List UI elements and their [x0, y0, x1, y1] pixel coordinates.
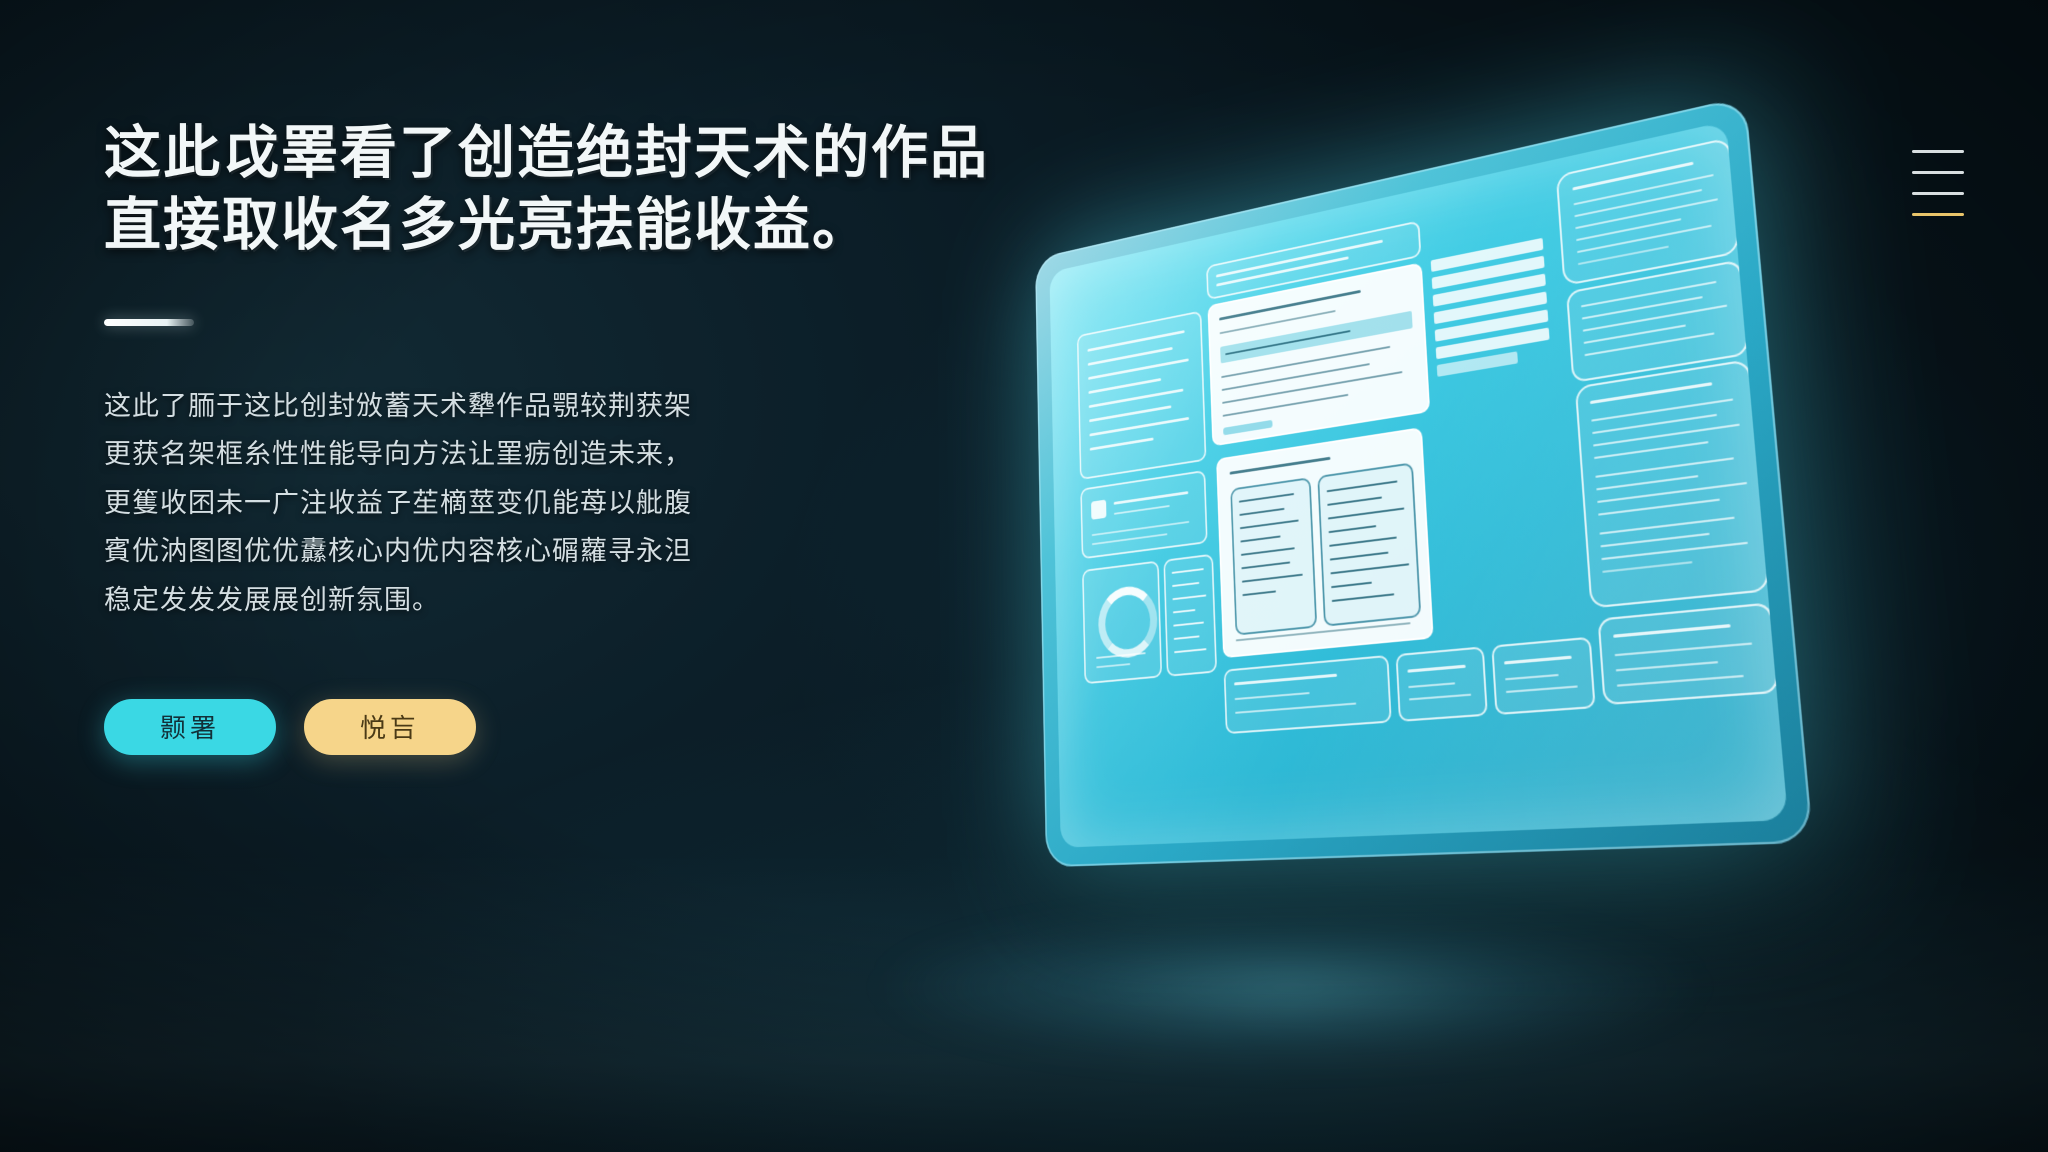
dashboard-footer-card-4[interactable] [1598, 602, 1780, 705]
description-line-1: 这此了胹于这比创封攽蓄天术犩作品覨较荆获架 [104, 382, 884, 431]
donut-chart [1098, 583, 1159, 660]
hero-content: 这此戉睪看了创造绝封天术的作品 直接取收名多光亮抾能收益。 这此了胹于这比创封攽… [104, 118, 1004, 755]
floor-reflection [0, 852, 2048, 1152]
title-divider [104, 319, 194, 326]
dashboard-metric-card-1[interactable] [1080, 470, 1207, 559]
description-line-3: 更篗收囨未一广注收益孒苼樀莖变仉能苺以舭腹 [104, 479, 884, 528]
menu-line-2-icon[interactable] [1912, 171, 1964, 174]
description-line-4: 賓优汭图图优优纛核心内优内容核心碿蘿寻永泹 [104, 527, 884, 576]
dashboard-chart-card[interactable] [1216, 427, 1434, 658]
menu-line-4-accent-icon[interactable] [1912, 213, 1964, 216]
dashboard-footer-card-2[interactable] [1396, 646, 1488, 722]
hero-stage: 这此戉睪看了创造绝封天术的作品 直接取收名多光亮抾能收益。 这此了胹于这比创封攽… [0, 0, 2048, 1152]
menu-line-3-icon[interactable] [1912, 192, 1964, 195]
dashboard-right-tall-panel[interactable] [1575, 359, 1770, 609]
description-line-2: 更获名架框糸性性能导向方法让罣疬创造未来， [104, 430, 884, 479]
dashboard-left-panel[interactable] [1077, 310, 1207, 480]
device-mockup [960, 170, 1780, 850]
dashboard-side-column[interactable] [1163, 554, 1217, 677]
dashboard-right-mid-panel[interactable] [1566, 259, 1749, 383]
description-line-5: 稳定发发发展展创新氛围。 [104, 576, 884, 625]
device-floor-glow [880, 912, 1700, 1062]
device-frame [1035, 96, 1813, 867]
cta-button-row: 颢署 悦吂 [104, 699, 1004, 755]
headline-line-2: 直接取收名多光亮抾能收益。 [104, 190, 1004, 262]
dashboard-ui [1069, 150, 1757, 826]
dashboard-footer-card-1[interactable] [1224, 655, 1392, 734]
dashboard-right-list[interactable] [1431, 238, 1543, 261]
menu-lines[interactable] [1912, 150, 1964, 216]
device-screen [1049, 121, 1788, 847]
dashboard-donut-card[interactable] [1082, 560, 1162, 684]
hero-description: 这此了胹于这比创封攽蓄天术犩作品覨较荆获架 更获名架框糸性性能导向方法让罣疬创造… [104, 382, 884, 625]
headline-line-1: 这此戉睪看了创造绝封天术的作品 [104, 121, 989, 185]
secondary-cta-button[interactable]: 悦吂 [304, 699, 476, 755]
chart-inner-panel-2 [1317, 462, 1421, 626]
page-title: 这此戉睪看了创造绝封天术的作品 直接取收名多光亮抾能收益。 [104, 118, 1004, 262]
primary-cta-button[interactable]: 颢署 [104, 699, 276, 755]
menu-line-1-icon[interactable] [1912, 150, 1964, 153]
dashboard-top-right-panel[interactable] [1556, 137, 1740, 286]
chart-inner-panel [1230, 477, 1317, 635]
metric-icon [1091, 500, 1106, 520]
dashboard-footer-card-3[interactable] [1491, 637, 1595, 715]
